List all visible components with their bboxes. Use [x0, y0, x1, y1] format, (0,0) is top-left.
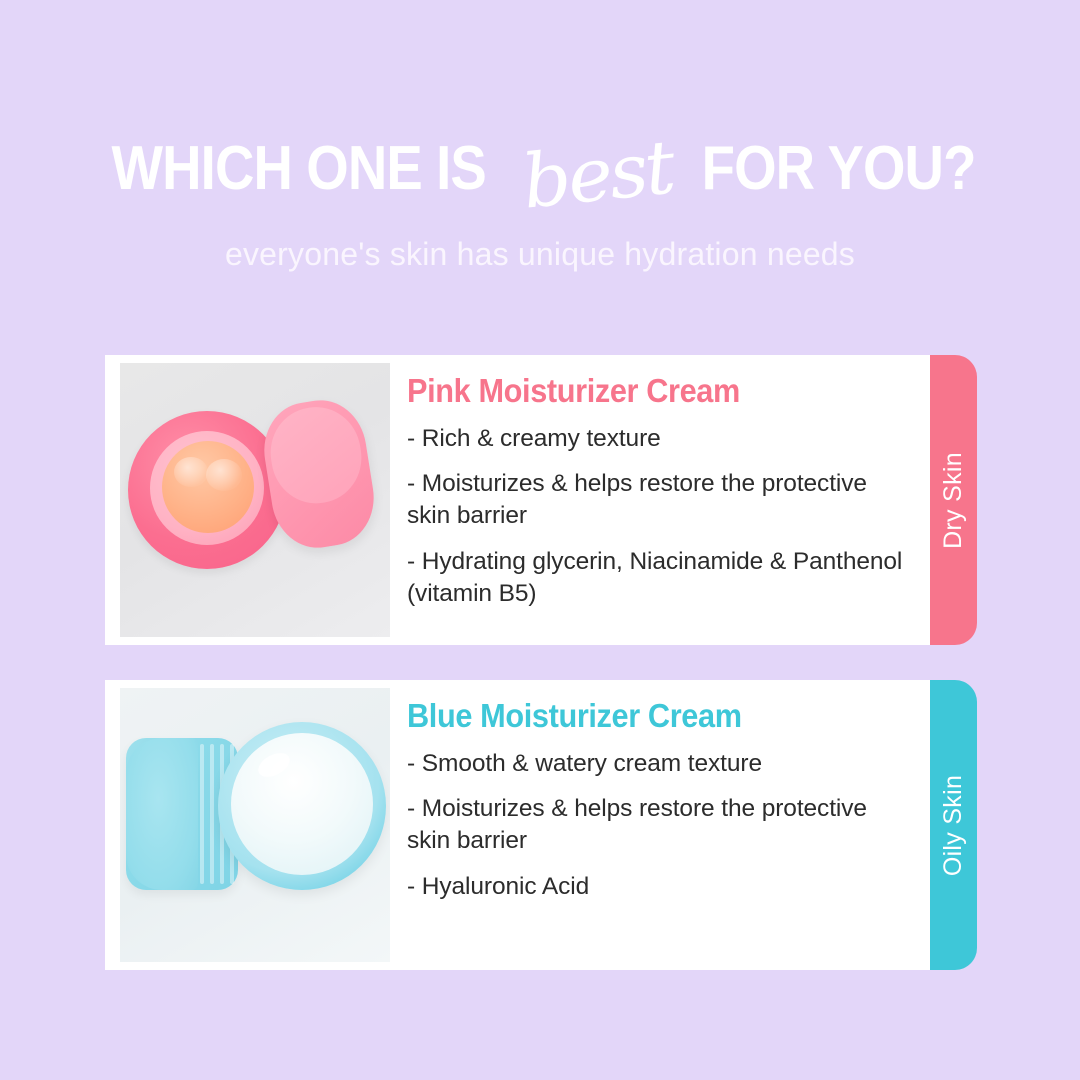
cream-highlight-icon — [254, 748, 293, 782]
pink-cream-icon — [162, 441, 254, 533]
headline-part-1: WHICH ONE IS — [112, 138, 486, 200]
feature-list-pink: - Rich & creamy texture - Moisturizes & … — [407, 423, 908, 611]
product-image-blue — [120, 688, 390, 962]
headline-part-2: FOR YOU? — [701, 138, 975, 200]
pink-jar-base-icon — [128, 411, 286, 569]
pink-jar-rim-icon — [150, 431, 264, 545]
skin-type-tab-oily[interactable]: Oily Skin — [930, 680, 977, 970]
lid-ridge-icon — [200, 744, 204, 884]
headline-script-word: best — [507, 129, 688, 221]
pink-jar-photo — [120, 363, 390, 637]
cream-rose-emboss-icon — [206, 459, 242, 491]
page-title: WHICH ONE IS best FOR YOU? — [0, 132, 1080, 206]
feature-list-blue: - Smooth & watery cream texture - Moistu… — [407, 748, 908, 903]
cream-rose-emboss-icon — [174, 457, 208, 487]
product-card-blue[interactable]: Blue Moisturizer Cream - Smooth & watery… — [105, 680, 980, 970]
blue-lid-face-icon — [126, 738, 198, 890]
product-title-blue: Blue Moisturizer Cream — [407, 699, 873, 734]
skin-type-tab-label: Dry Skin — [939, 452, 968, 549]
feature-item: - Hydrating glycerin, Niacinamide & Pant… — [407, 546, 908, 611]
feature-item: - Hyaluronic Acid — [407, 871, 908, 903]
skin-type-tab-dry[interactable]: Dry Skin — [930, 355, 977, 645]
pink-lid-top-icon — [264, 401, 368, 510]
card-text-blue: Blue Moisturizer Cream - Smooth & watery… — [390, 680, 930, 916]
blue-jar-base-icon — [218, 722, 386, 890]
page-subtitle: everyone's skin has unique hydration nee… — [0, 236, 1080, 273]
pink-lid-icon — [257, 394, 381, 554]
product-card-pink[interactable]: Pink Moisturizer Cream - Rich & creamy t… — [105, 355, 980, 645]
lid-ridge-icon — [210, 744, 214, 884]
feature-item: - Smooth & watery cream texture — [407, 748, 908, 780]
product-image-pink — [120, 363, 390, 637]
feature-item: - Rich & creamy texture — [407, 423, 908, 455]
blue-cream-icon — [231, 733, 373, 875]
header: WHICH ONE IS best FOR YOU? everyone's sk… — [0, 0, 1080, 273]
card-text-pink: Pink Moisturizer Cream - Rich & creamy t… — [390, 355, 930, 623]
feature-item: - Moisturizes & helps restore the protec… — [407, 468, 908, 533]
skin-type-tab-label: Oily Skin — [939, 774, 968, 875]
card-body: Pink Moisturizer Cream - Rich & creamy t… — [105, 355, 930, 645]
blue-jar-photo — [120, 688, 390, 962]
feature-item: - Moisturizes & helps restore the protec… — [407, 793, 908, 858]
card-body: Blue Moisturizer Cream - Smooth & watery… — [105, 680, 930, 970]
product-title-pink: Pink Moisturizer Cream — [407, 374, 873, 409]
product-card-list: Pink Moisturizer Cream - Rich & creamy t… — [105, 355, 980, 1005]
